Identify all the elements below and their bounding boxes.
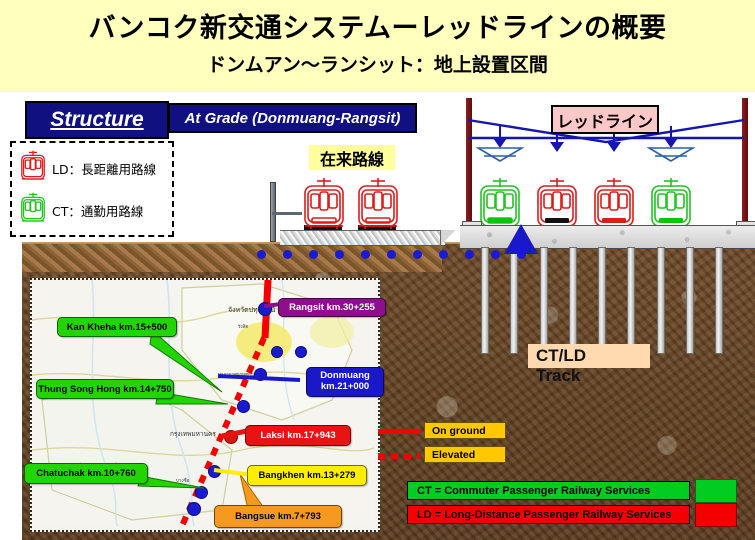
ld-color-swatch: [695, 503, 737, 527]
train-icon-green: [20, 191, 46, 230]
svg-text:กรุงเทพมหานคร: กรุงเทพมหานคร: [170, 430, 216, 438]
at-grade-banner: At Grade (Donmuang-Rangsit): [168, 103, 417, 133]
callout-rangsit[interactable]: Rangsit km.30+255: [278, 298, 386, 317]
svg-text:รังสิต: รังสิต: [238, 324, 248, 330]
foundation-pile: [715, 247, 723, 354]
legend-label-ct: CT：通勤用路線: [52, 201, 143, 220]
red-line-tag: レッドライン: [551, 105, 659, 134]
alignment-dot: [491, 250, 500, 259]
callout-thung-song-hong[interactable]: Thung Song Hong km.14+750: [36, 379, 174, 399]
ctld-track-label: CT/LD: [528, 344, 650, 368]
foundation-pile: [569, 247, 577, 354]
alignment-dot: [335, 250, 344, 259]
callout-bangsue[interactable]: Bangsue km.7+793: [214, 505, 342, 528]
foundation-pile: [510, 247, 518, 354]
train-icon-red: [535, 178, 579, 230]
foundation-pile: [686, 247, 694, 354]
callout-kan-kheha[interactable]: Kan Kheha km.15+500: [57, 317, 177, 337]
callout-laksi[interactable]: Laksi km.17+943: [245, 425, 351, 446]
conventional-line-tag: 在来路線: [309, 145, 395, 170]
left-ground-strip: [22, 244, 442, 272]
slide-root: バンコク新交通システムーレッドラインの概要 ドンムアン～ランシット：地上設置区間: [0, 0, 755, 540]
train-icon-red: [592, 178, 636, 230]
legend-row-ct: CT：通勤用路線: [20, 191, 143, 230]
legend-ct-service: CT = Commuter Passenger Railway Services: [407, 481, 690, 500]
diagram-canvas: Structure At Grade (Donmuang-Rangsit) レッ…: [0, 92, 755, 540]
callout-donmuang[interactable]: Donmuang km.21+000: [306, 367, 384, 397]
on-ground-swatch: [378, 429, 420, 434]
alignment-dot: [257, 250, 266, 259]
station-dot-bangsue[interactable]: [187, 502, 201, 516]
pantograph-icon: [647, 146, 695, 162]
alignment-dot: [387, 250, 396, 259]
legend-label-ld: LD：長距離用路線: [52, 159, 156, 178]
svg-text:บางซื่อ: บางซื่อ: [176, 477, 190, 484]
svg-text:หลักสี่: หลักสี่: [180, 397, 191, 404]
structure-legend-box: LD：長距離用路線 CT：通勤用路線: [10, 141, 174, 237]
signal-arm: [272, 212, 302, 215]
legend-on-ground: On ground: [424, 422, 506, 439]
legend-ld-service: LD = Long-Distance Passenger Railway Ser…: [407, 505, 690, 524]
ctld-track-sublabel: Track: [536, 366, 580, 386]
station-dot[interactable]: [271, 346, 283, 358]
station-dot-chatuchak[interactable]: [195, 486, 208, 499]
callout-bangkhen[interactable]: Bangkhen km.13+279: [247, 465, 367, 486]
foundation-pile: [657, 247, 665, 354]
ballast-slope: [440, 230, 455, 246]
elevated-swatch: [378, 453, 420, 459]
alignment-dot: [413, 250, 422, 259]
catenary-arrow-icon: [550, 142, 564, 152]
train-icon-red: [20, 149, 46, 188]
train-icon-red: [356, 178, 400, 230]
station-dot-laksi[interactable]: [224, 430, 238, 444]
station-dot-donmuang[interactable]: [254, 368, 267, 381]
alignment-dot: [309, 250, 318, 259]
station-dot-kankheha[interactable]: [237, 400, 250, 413]
catenary-arrow-icon: [607, 142, 621, 152]
legend-elevated: Elevated: [424, 446, 506, 463]
structure-banner: Structure: [25, 101, 169, 139]
alignment-arrow-icon: [504, 224, 538, 256]
at-grade-ballast: [280, 230, 445, 246]
title-band: バンコク新交通システムーレッドラインの概要 ドンムアン～ランシット：地上設置区間: [0, 0, 755, 92]
ct-color-swatch: [695, 479, 737, 503]
foundation-pile: [540, 247, 548, 354]
page-title: バンコク新交通システムーレッドラインの概要: [0, 6, 755, 45]
train-icon-red: [302, 178, 346, 230]
station-dot-rangsit[interactable]: [258, 302, 272, 316]
station-dot-bangkhen[interactable]: [208, 465, 221, 478]
station-dot[interactable]: [295, 346, 307, 358]
foundation-pile: [481, 247, 489, 354]
foundation-pile: [627, 247, 635, 354]
train-icon-green: [649, 178, 693, 230]
page-subtitle: ドンムアン～ランシット：地上設置区間: [0, 50, 755, 77]
foundation-pile: [598, 247, 606, 354]
alignment-dot: [361, 250, 370, 259]
alignment-dot: [283, 250, 292, 259]
pantograph-icon: [476, 146, 524, 162]
alignment-dot: [465, 250, 474, 259]
callout-chatuchak[interactable]: Chatuchak km.10+760: [24, 463, 148, 484]
alignment-dot: [439, 250, 448, 259]
legend-row-ld: LD：長距離用路線: [20, 149, 156, 188]
train-icon-green: [478, 178, 522, 230]
